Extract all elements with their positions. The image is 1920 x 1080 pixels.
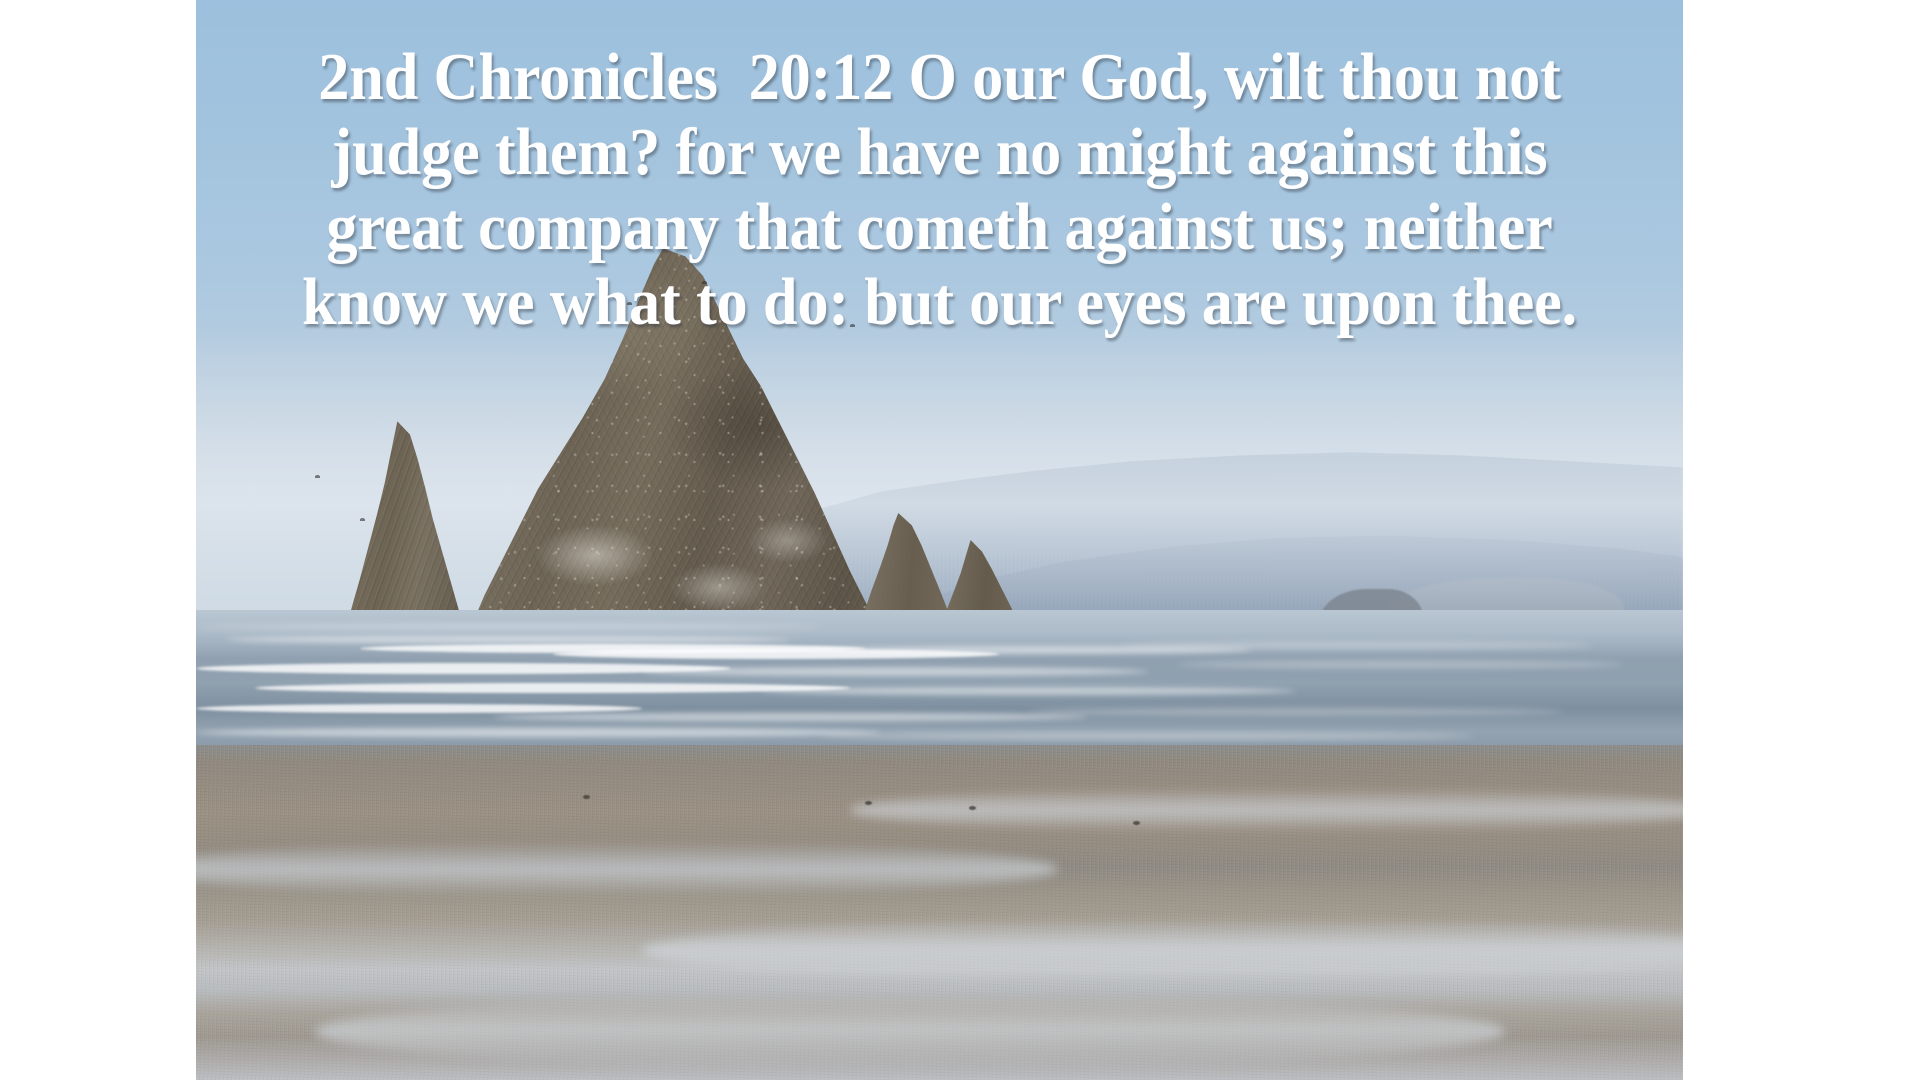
left-margin [0, 0, 196, 1080]
shorebird [1133, 821, 1140, 825]
right-margin [1683, 0, 1920, 1080]
slide-canvas: 2nd Chronicles 20:12 O our God, wilt tho… [0, 0, 1920, 1080]
wave-line [1118, 642, 1594, 649]
flying-bird [850, 324, 855, 327]
shorebird [583, 795, 590, 799]
flying-bird [315, 475, 320, 478]
shorebird [969, 806, 976, 810]
wave-line [493, 713, 1088, 721]
flying-bird [627, 302, 632, 305]
wave-line [1177, 661, 1623, 668]
wave-line [761, 687, 1296, 695]
wet-sand-sheen [315, 994, 1505, 1070]
flying-bird [360, 518, 365, 521]
wet-sand-sheen [642, 918, 1683, 983]
wave-line [196, 728, 880, 737]
flying-bird [702, 281, 707, 284]
background-photo [196, 0, 1683, 1080]
wet-sand-sheen [850, 788, 1683, 831]
